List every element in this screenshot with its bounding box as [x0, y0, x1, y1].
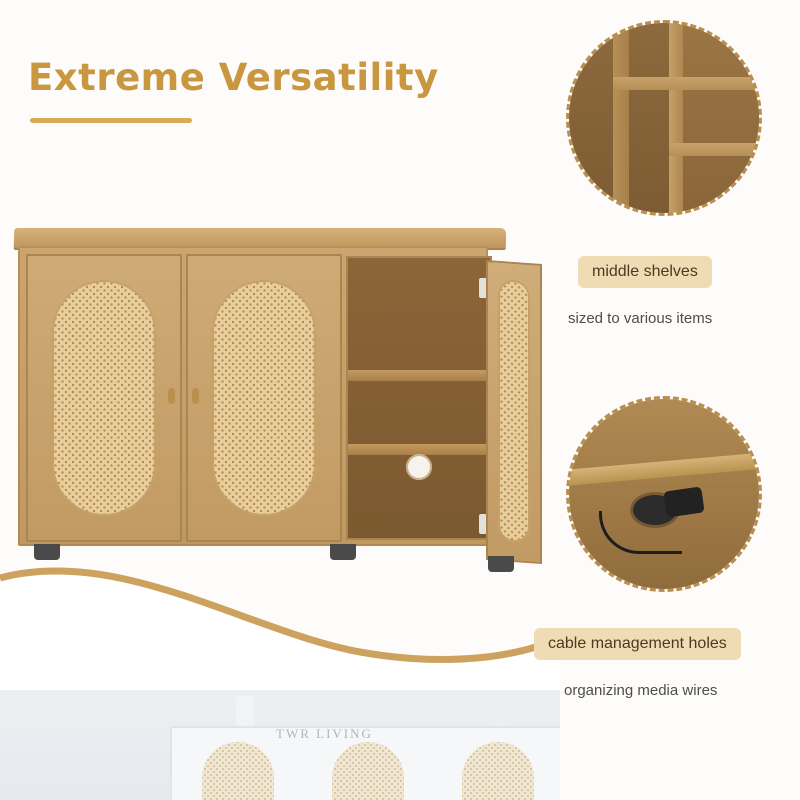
- open-compartment: [346, 256, 492, 540]
- cable-wire: [599, 511, 682, 554]
- product-infographic: Extreme Versatility: [0, 0, 800, 800]
- shelf-divider-left: [613, 23, 629, 216]
- room-lifestyle-photo: TWR LIVING: [0, 690, 560, 800]
- shelf-divider-right: [669, 23, 683, 216]
- room-vase: [494, 700, 510, 728]
- door-handle-left: [168, 388, 175, 404]
- product-image-main: [8, 228, 518, 568]
- page-title: Extreme Versatility: [28, 56, 439, 99]
- callout-subtitle-cable-management: organizing media wires: [564, 682, 717, 699]
- callout-cable-management: cable management holes: [534, 628, 741, 660]
- room-rattan-panel-2: [332, 742, 404, 800]
- rattan-panel-left: [52, 280, 156, 516]
- door-handle-right: [192, 388, 199, 404]
- cabinet-body: [18, 246, 488, 546]
- callout-middle-shelves: middle shelves: [578, 256, 712, 288]
- detail-circle-cable-management: [566, 396, 762, 592]
- photo-watermark: TWR LIVING: [276, 726, 373, 742]
- cabinet-door-right: [186, 254, 342, 542]
- cabinet-foot-center: [330, 544, 356, 560]
- room-lamp: [236, 696, 254, 726]
- rattan-panel-open-door: [498, 279, 530, 543]
- cable-hole: [406, 454, 432, 480]
- cabinet-foot-left: [34, 544, 60, 560]
- shelf-back-panel: [681, 23, 762, 216]
- cabinet-door-open: [486, 260, 542, 564]
- room-rattan-panel-3: [462, 742, 534, 800]
- cable-detail-photo: [569, 399, 759, 589]
- title-underline: [30, 118, 192, 123]
- callout-subtitle-middle-shelves: sized to various items: [568, 310, 712, 327]
- shelf-upper: [348, 370, 490, 381]
- shelf-board-lower: [669, 143, 762, 156]
- room-rattan-panel-1: [202, 742, 274, 800]
- cabinet-door-left: [26, 254, 182, 542]
- decorative-swoosh: [0, 560, 560, 700]
- cabinet-edge: [569, 452, 762, 485]
- detail-circle-middle-shelves: [566, 20, 762, 216]
- shelf-detail-photo: [569, 23, 759, 213]
- shelf-board-upper: [613, 77, 762, 90]
- rattan-panel-right: [212, 280, 316, 516]
